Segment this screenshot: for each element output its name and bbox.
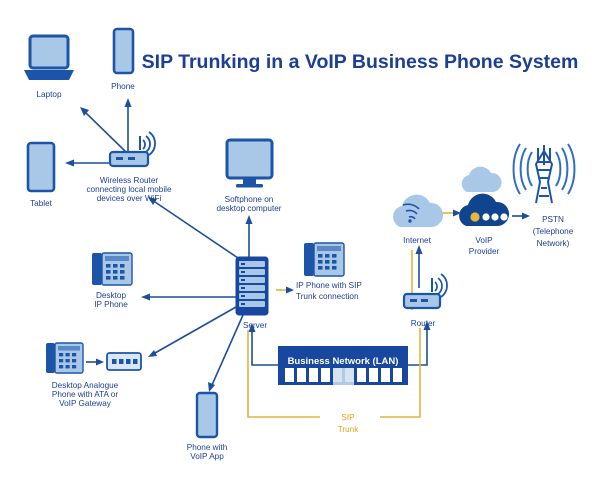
- wireless-router-label-line-3: devices over WiFi: [97, 194, 162, 203]
- voip-app-phone-label-line-2: VoIP App: [190, 452, 224, 461]
- voip-provider-label-line-2: Provider: [469, 247, 500, 256]
- desktop-ip-phone-label-line-1: Desktop: [96, 291, 126, 300]
- softphone-label-line-1: Softphone on: [225, 195, 274, 204]
- ip-phone-sip-label-line-2: Trunk connection: [296, 292, 359, 301]
- analogue-phone-label-line-3: VoIP Gateway: [59, 399, 112, 408]
- page-title: SIP Trunking in a VoIP Business Phone Sy…: [142, 51, 579, 73]
- sip-trunk-label-line-1: SIP: [341, 413, 355, 422]
- diagram-background: [0, 0, 600, 500]
- laptop-icon: [24, 36, 74, 80]
- softphone-label-line-2: desktop computer: [216, 204, 281, 213]
- laptop-label: Laptop: [36, 90, 61, 99]
- sip-trunk-label-line-2: Trunk: [338, 425, 360, 434]
- server-rack-icon: [236, 257, 268, 315]
- node-tablet[interactable]: Tablet: [28, 143, 54, 208]
- analogue-phone-label-line-1: Desktop Analogue: [52, 381, 119, 390]
- desk-phone-icon: [92, 253, 132, 285]
- node-softphone[interactable]: Softphone on desktop computer: [216, 140, 281, 213]
- node-phone[interactable]: Phone: [111, 29, 135, 91]
- lan-label: Business Network (LAN): [288, 356, 399, 367]
- node-ata-gateway[interactable]: [107, 353, 141, 370]
- pstn-label-line-3: Network): [537, 239, 570, 248]
- router-label: Router: [411, 319, 436, 328]
- node-lan[interactable]: Business Network (LAN): [278, 346, 408, 385]
- pstn-label-line-1: PSTN: [542, 215, 564, 224]
- desk-phone-icon: [304, 243, 344, 276]
- ip-phone-sip-label-line-1: IP Phone with SIP: [296, 281, 362, 290]
- network-diagram: SIP Trunking in a VoIP Business Phone Sy…: [0, 0, 600, 500]
- server-label: Server: [243, 321, 267, 330]
- desktop-ip-phone-label-line-2: IP Phone: [94, 300, 128, 309]
- tablet-label: Tablet: [30, 199, 53, 208]
- node-desktop-ip-phone[interactable]: Desktop IP Phone: [92, 253, 132, 309]
- mobile-phone-icon: [114, 29, 133, 73]
- tablet-icon: [28, 143, 54, 191]
- wireless-router-label-line-1: Wireless Router: [100, 176, 159, 185]
- mobile-phone-icon: [197, 393, 217, 437]
- internet-label: Internet: [403, 236, 431, 245]
- voip-app-phone-label-line-1: Phone with: [187, 443, 228, 452]
- voip-provider-label-line-1: VoIP: [475, 236, 493, 245]
- desk-phone-icon: [46, 343, 83, 373]
- phone-label: Phone: [111, 82, 135, 91]
- ata-gateway-icon: [107, 353, 141, 370]
- analogue-phone-label-line-2: Phone with ATA or: [52, 390, 118, 399]
- wireless-router-label-line-2: connecting local mobile: [86, 185, 172, 194]
- pstn-label-line-2: (Telephone: [533, 227, 574, 236]
